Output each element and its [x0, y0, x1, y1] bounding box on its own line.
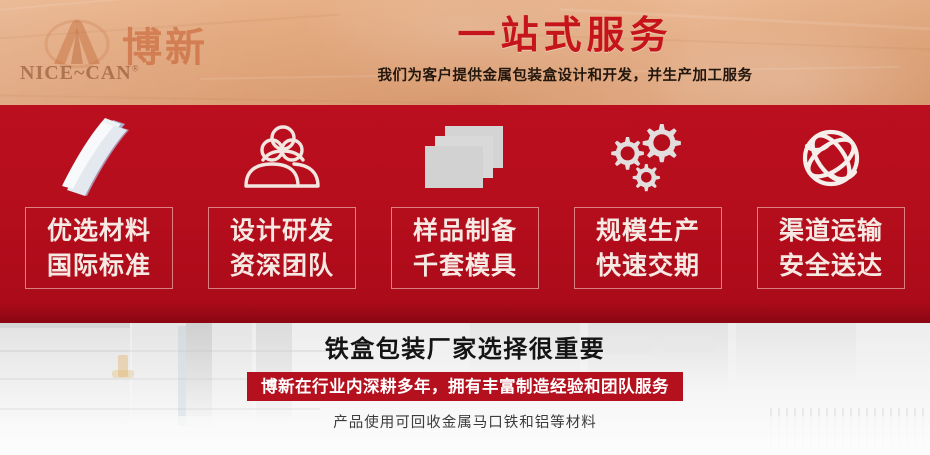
feature-label-line1: 样品制备 — [413, 214, 517, 247]
team-people-icon — [197, 105, 367, 205]
feature-label-box: 设计研发 资深团队 — [208, 207, 356, 289]
feature-item-production: 规模生产 快速交期 — [563, 105, 733, 320]
logo-wordmark-text: NICE~CAN — [20, 62, 132, 84]
feature-label-line2: 千套模具 — [413, 249, 517, 282]
nice-can-arch-mark-icon — [44, 18, 110, 68]
footer-highlight-bar: 博新在行业内深耕多年，拥有丰富制造经验和团队服务 — [247, 372, 683, 401]
logo-brand-cn: 博新 — [122, 28, 208, 68]
feature-item-design-team: 设计研发 资深团队 — [197, 105, 367, 320]
feature-label-line1: 优选材料 — [47, 214, 151, 247]
stacked-paper-sheets-icon — [14, 105, 184, 205]
feature-label-box: 优选材料 国际标准 — [25, 207, 173, 289]
feature-item-samples: 样品制备 千套模具 — [380, 105, 550, 320]
header-texture-streak — [0, 94, 500, 105]
feature-label-line2: 国际标准 — [47, 249, 151, 282]
feature-label-box: 渠道运输 安全送达 — [757, 207, 905, 289]
banner-footer: 铁盒包装厂家选择很重要 博新在行业内深耕多年，拥有丰富制造经验和团队服务 产品使… — [0, 320, 930, 455]
feature-label-line1: 渠道运输 — [779, 214, 883, 247]
promo-banner: NICE~CAN® 博新 一站式服务 我们为客户提供金属包装盒设计和开发，并生产… — [0, 0, 930, 455]
feature-strip: 优选材料 国际标准 设计研发 — [0, 105, 930, 320]
page-title: 一站式服务 — [210, 12, 920, 58]
company-logo: NICE~CAN® 博新 — [14, 18, 214, 90]
feature-label-box: 规模生产 快速交期 — [574, 207, 722, 289]
feature-label-line1: 设计研发 — [230, 214, 334, 247]
feature-label-line2: 安全送达 — [779, 249, 883, 282]
feature-label-line2: 快速交期 — [596, 249, 700, 282]
footer-note: 产品使用可回收金属马口铁和铝等材料 — [0, 413, 930, 433]
gears-icon — [563, 105, 733, 205]
feature-item-materials: 优选材料 国际标准 — [14, 105, 184, 320]
feature-label-box: 样品制备 千套模具 — [391, 207, 539, 289]
feature-label-line2: 资深团队 — [230, 249, 334, 282]
footer-highlight-wrap: 博新在行业内深耕多年，拥有丰富制造经验和团队服务 — [0, 372, 930, 401]
footer-heading: 铁盒包装厂家选择很重要 — [0, 334, 930, 364]
footer-text-block: 铁盒包装厂家选择很重要 博新在行业内深耕多年，拥有丰富制造经验和团队服务 产品使… — [0, 320, 930, 433]
globe-orbit-icon — [746, 105, 916, 205]
feature-item-logistics: 渠道运输 安全送达 — [746, 105, 916, 320]
banner-header: NICE~CAN® 博新 一站式服务 我们为客户提供金属包装盒设计和开发，并生产… — [0, 0, 930, 105]
page-subtitle: 我们为客户提供金属包装盒设计和开发，并生产加工服务 — [210, 66, 920, 86]
feature-label-line1: 规模生产 — [596, 214, 700, 247]
stacked-cards-icon — [380, 105, 550, 205]
header-text-block: 一站式服务 我们为客户提供金属包装盒设计和开发，并生产加工服务 — [210, 12, 920, 86]
